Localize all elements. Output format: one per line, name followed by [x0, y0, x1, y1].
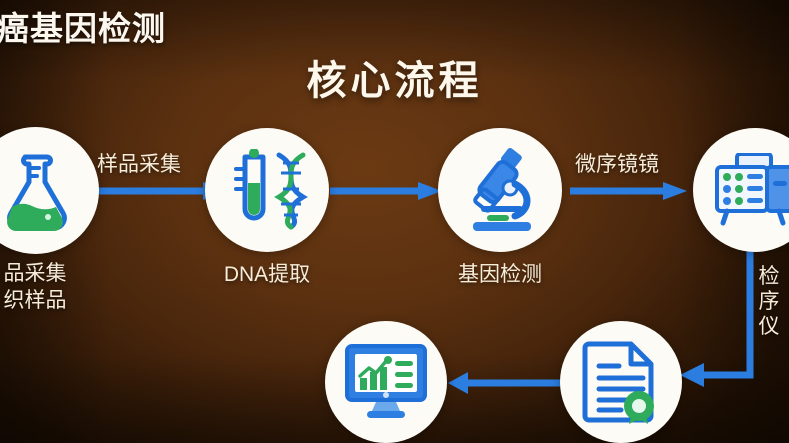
side-label-sequencer: 检 序 仪	[757, 264, 781, 339]
node-label-gene-testing: 基因检测	[420, 262, 580, 288]
node-label-dna-extraction: DNA提取	[187, 262, 347, 288]
node-sequencer[interactable]	[693, 128, 789, 252]
side-label-char-3: 仪	[757, 314, 781, 339]
arrow-microscope-to-sequencer	[570, 180, 690, 202]
node-label-sample-collection: 品采集 织样品	[0, 260, 110, 314]
report-chart-monitor-icon	[343, 344, 429, 420]
side-label-char-1: 检	[757, 264, 781, 289]
dna-test-tube-icon	[221, 149, 313, 231]
edge-label-micro-sequencing: 微序镜镜	[575, 148, 659, 178]
node-sample-collection[interactable]	[0, 127, 99, 254]
arrow-document-to-monitor	[448, 372, 568, 394]
microscope-icon	[457, 148, 543, 232]
node-certified-report[interactable]	[560, 321, 682, 443]
node-report-dashboard[interactable]	[325, 321, 447, 443]
node-label-line2: 织样品	[0, 287, 110, 314]
slide-canvas: 癌基因检测 核心流程	[0, 0, 789, 443]
page-title: 核心流程	[0, 48, 789, 106]
flask-icon	[0, 151, 73, 231]
certified-document-icon	[581, 340, 661, 424]
edge-label-sample-collection: 样品采集	[97, 148, 181, 178]
side-label-char-2: 序	[757, 289, 781, 314]
corner-title: 癌基因检测	[0, 2, 166, 50]
node-label-line1: 品采集	[0, 260, 110, 287]
arrow-dna-to-microscope	[330, 180, 445, 202]
node-gene-testing[interactable]	[438, 128, 562, 252]
sequencer-icon	[713, 153, 789, 227]
node-dna-extraction[interactable]	[205, 128, 329, 252]
